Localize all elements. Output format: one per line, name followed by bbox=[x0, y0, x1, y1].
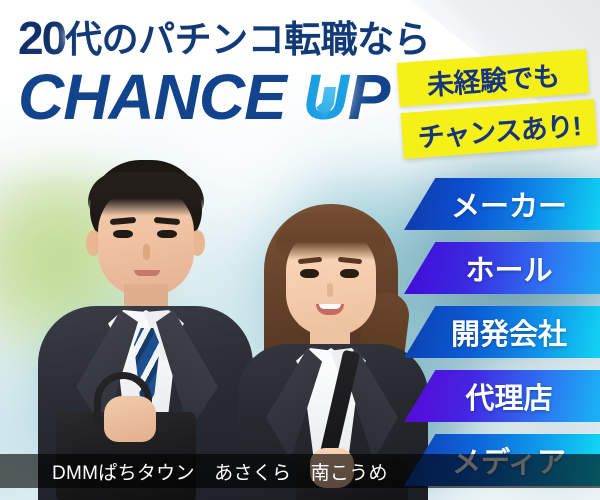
category-label: メーカー bbox=[437, 183, 567, 225]
category-button-hall[interactable]: ホール bbox=[404, 242, 600, 294]
woman-nose bbox=[327, 283, 333, 297]
man-nose bbox=[143, 244, 150, 260]
category-label: 開発会社 bbox=[437, 311, 567, 353]
man-mouth bbox=[134, 270, 160, 276]
badge-bar-1: 未経験でも bbox=[397, 49, 590, 107]
headline-tagline-rest: 代のパチンコ転職なら bbox=[65, 19, 430, 60]
badge-label-2: チャンスあり! bbox=[416, 104, 582, 155]
ad-banner[interactable]: 20代のパチンコ転職なら CHANCE UP 未経験でも チャンスあり! メーカ… bbox=[0, 0, 600, 500]
category-button-maker[interactable]: メーカー bbox=[404, 178, 600, 230]
caption-text: DMMぱちタウン あさくら 南こうめ bbox=[0, 458, 388, 485]
category-button-developer[interactable]: 開発会社 bbox=[404, 306, 600, 358]
man-eye-left bbox=[113, 230, 133, 238]
woman-teeth bbox=[319, 304, 341, 309]
category-button-agency[interactable]: 代理店 bbox=[404, 370, 600, 422]
caption-bar: DMMぱちタウン あさくら 南こうめ bbox=[0, 454, 600, 488]
headline-age-number: 20 bbox=[18, 12, 65, 64]
badge-block: 未経験でも チャンスあり! bbox=[398, 56, 594, 156]
man-in-suit bbox=[38, 160, 253, 500]
woman-eye-left bbox=[300, 269, 319, 278]
woman-fringe bbox=[276, 212, 386, 260]
category-label: ホール bbox=[451, 247, 552, 289]
man-fringe bbox=[88, 172, 204, 216]
photo-subjects bbox=[0, 140, 430, 500]
logo-chance-up: CHANCE UP bbox=[18, 65, 438, 129]
logo-letter-p: P bbox=[348, 61, 390, 133]
logo-chance-word: CHANCE bbox=[18, 61, 303, 133]
badge-bar-2: チャンスあり! bbox=[401, 99, 598, 159]
headline-tagline: 20代のパチンコ転職なら bbox=[18, 14, 438, 63]
man-hand bbox=[104, 396, 156, 442]
category-label: 代理店 bbox=[451, 375, 552, 417]
man-eye-right bbox=[157, 230, 177, 238]
category-list: メーカー ホール 開発会社 代理店 メディア bbox=[404, 178, 600, 498]
headline-block: 20代のパチンコ転職なら CHANCE UP bbox=[18, 14, 438, 129]
badge-label-1: 未経験でも bbox=[425, 54, 560, 103]
woman-eye-right bbox=[340, 269, 359, 278]
